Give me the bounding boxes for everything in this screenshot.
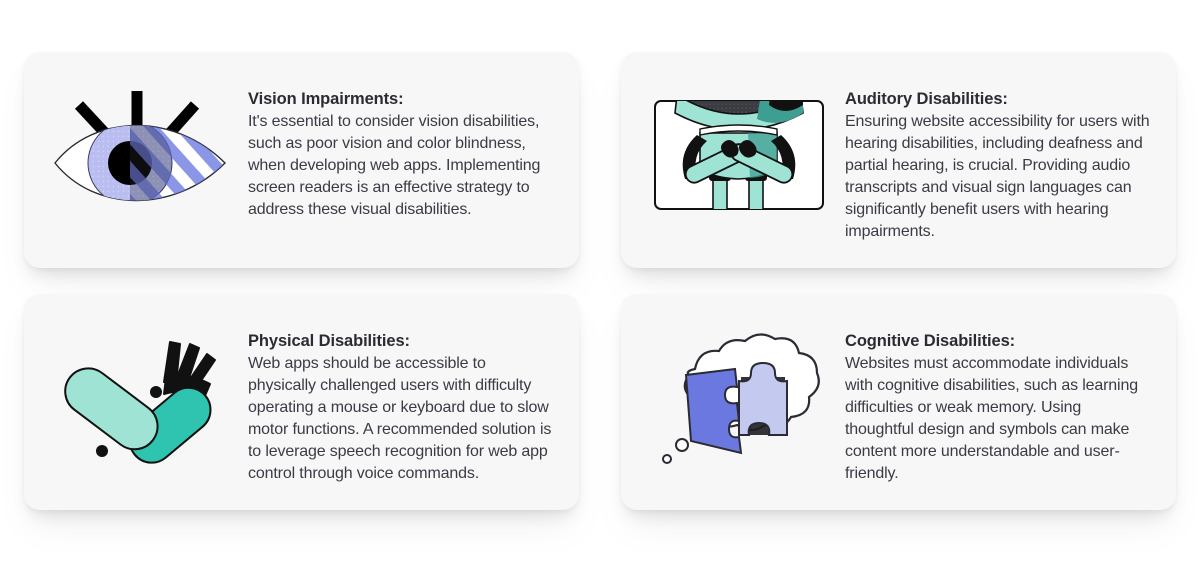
card-art-cognitive — [633, 308, 845, 496]
card-art-physical — [36, 308, 248, 496]
elbow-joint-dot — [150, 386, 162, 398]
card-body: Web apps should be accessible to physica… — [248, 353, 557, 485]
accessibility-card-grid: Vision Impairments: It's essential to co… — [0, 0, 1200, 563]
card-cognitive-disabilities[interactable]: Cognitive Disabilities: Websites must ac… — [621, 294, 1176, 510]
card-title: Cognitive Disabilities: — [845, 330, 1154, 352]
card-text-cognitive: Cognitive Disabilities: Websites must ac… — [845, 308, 1158, 485]
card-body: Websites must accommodate individuals wi… — [845, 353, 1154, 485]
card-text-auditory: Auditory Disabilities: Ensuring website … — [845, 66, 1158, 243]
card-vision-impairments[interactable]: Vision Impairments: It's essential to co… — [24, 52, 579, 268]
card-title: Physical Disabilities: — [248, 330, 557, 352]
thought-bubble-puzzle-icon — [651, 329, 827, 469]
upper-arm-segment — [56, 359, 167, 458]
card-art-auditory — [633, 66, 845, 254]
eye-icon — [47, 85, 233, 221]
card-text-physical: Physical Disabilities: Web apps should b… — [248, 308, 561, 485]
thought-trail-circle-large — [676, 439, 688, 451]
card-physical-disabilities[interactable]: Physical Disabilities: Web apps should b… — [24, 294, 579, 510]
puzzle-pieces — [686, 363, 787, 453]
puzzle-piece-left — [686, 369, 741, 453]
card-body: Ensuring website accessibility for users… — [845, 111, 1154, 243]
card-auditory-disabilities[interactable]: Auditory Disabilities: Ensuring website … — [621, 52, 1176, 268]
prosthetic-arm-icon — [46, 326, 232, 476]
thought-trail-circle-small — [663, 455, 671, 463]
card-art-vision — [36, 66, 248, 254]
card-body: It's essential to consider vision disabi… — [248, 111, 557, 221]
shoulder-joint-dot — [96, 445, 108, 457]
card-title: Vision Impairments: — [248, 88, 557, 110]
card-text-vision: Vision Impairments: It's essential to co… — [248, 66, 561, 221]
person-covering-ears-icon — [653, 99, 825, 211]
card-title: Auditory Disabilities: — [845, 88, 1154, 110]
